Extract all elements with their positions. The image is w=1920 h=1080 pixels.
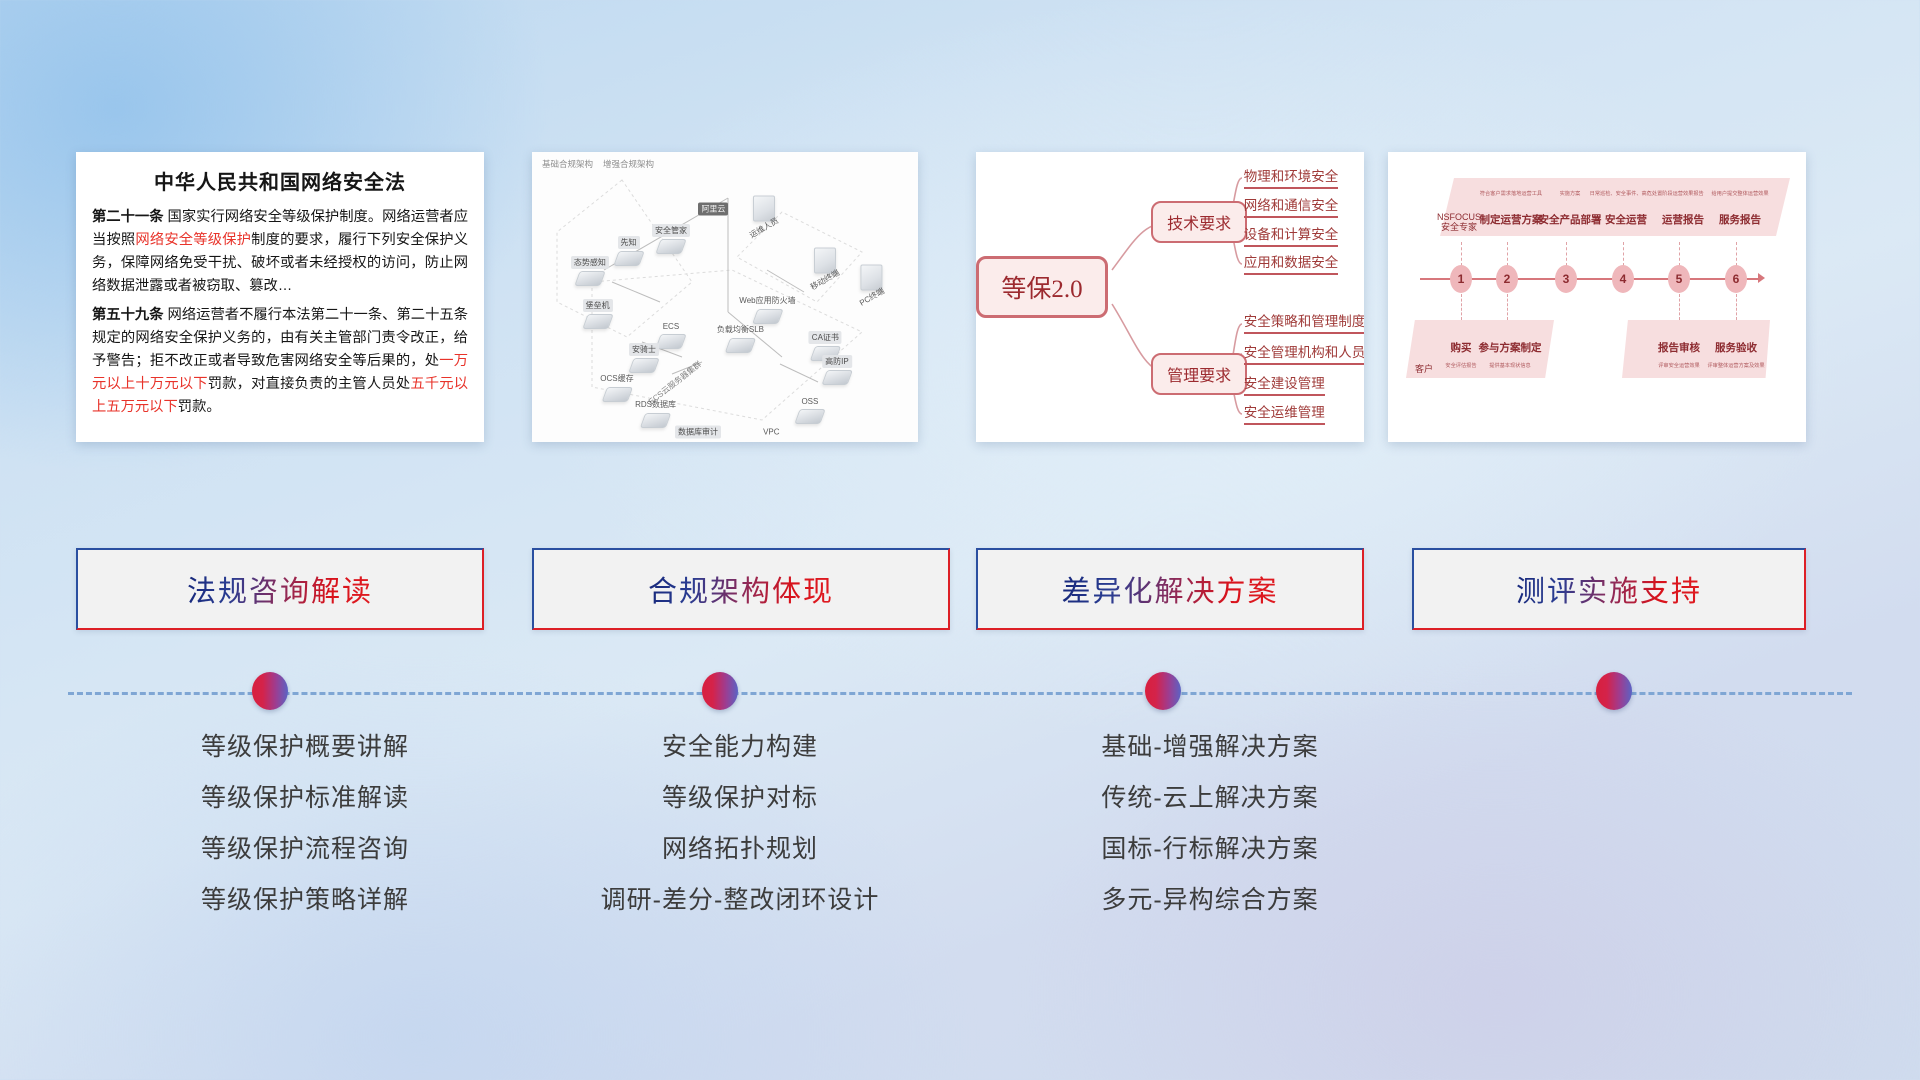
- detail-item: 等级保护对标: [520, 786, 960, 811]
- category-box-label: 测评实施支持: [1516, 568, 1702, 610]
- category-box-assessment-support[interactable]: 测评实施支持: [1412, 548, 1806, 630]
- detail-columns-row: 等级保护概要讲解 等级保护标准解读 等级保护流程咨询 等级保护策略详解 安全能力…: [0, 735, 1920, 985]
- category-box-regulation-consulting[interactable]: 法规咨询解读: [76, 548, 484, 630]
- detail-item: 等级保护策略详解: [95, 888, 515, 913]
- detail-column-architecture: 安全能力构建 等级保护对标 网络拓扑规划 调研-差分-整改闭环设计: [520, 735, 960, 939]
- category-box-label: 合规架构体现: [648, 568, 834, 610]
- timeline-track: [0, 690, 1920, 696]
- detail-column-regulation: 等级保护概要讲解 等级保护标准解读 等级保护流程咨询 等级保护策略详解: [95, 735, 515, 939]
- timeline-dashed-line: [68, 692, 1852, 695]
- category-box-label: 差异化解决方案: [1061, 568, 1278, 610]
- detail-item: 等级保护流程咨询: [95, 837, 515, 862]
- detail-item: 等级保护概要讲解: [95, 735, 515, 760]
- detail-item: 多元-异构综合方案: [1000, 888, 1420, 913]
- detail-item: 网络拓扑规划: [520, 837, 960, 862]
- detail-column-solution: 基础-增强解决方案 传统-云上解决方案 国标-行标解决方案 多元-异构综合方案: [1000, 735, 1420, 939]
- detail-item: 基础-增强解决方案: [1000, 735, 1420, 760]
- category-box-differentiated-solution[interactable]: 差异化解决方案: [976, 548, 1364, 630]
- category-box-label: 法规咨询解读: [187, 568, 373, 610]
- detail-item: 安全能力构建: [520, 735, 960, 760]
- timeline-dot[interactable]: [702, 672, 738, 710]
- timeline-dot[interactable]: [252, 672, 288, 710]
- detail-item: 等级保护标准解读: [95, 786, 515, 811]
- category-box-compliance-architecture[interactable]: 合规架构体现: [532, 548, 950, 630]
- timeline-dot[interactable]: [1145, 672, 1181, 710]
- timeline-dot[interactable]: [1596, 672, 1632, 710]
- detail-item: 传统-云上解决方案: [1000, 786, 1420, 811]
- detail-item: 国标-行标解决方案: [1000, 837, 1420, 862]
- detail-item: 调研-差分-整改闭环设计: [520, 888, 960, 913]
